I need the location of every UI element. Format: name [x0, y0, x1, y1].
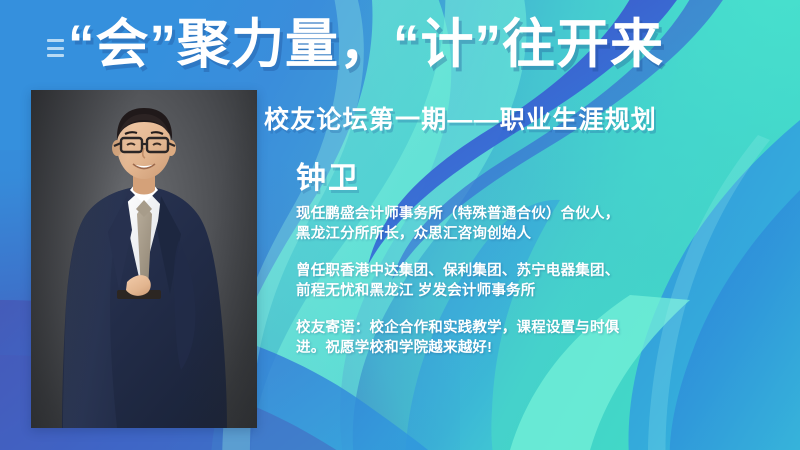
speaker-info-panel: 钟卫 现任鹏盛会计师事务所（特殊普通合伙）合伙人， 黑龙江分所所长，众思汇咨询创…: [296, 160, 716, 358]
bio-line: 进。祝愿学校和学院越来越好!: [296, 338, 716, 358]
hamburger-menu-icon[interactable]: [47, 39, 64, 57]
hamburger-bar-1: [47, 39, 64, 42]
bio-alumni-message: 校友寄语：校企合作和实践教学，课程设置与时俱 进。祝愿学校和学院越来越好!: [296, 318, 716, 358]
portrait-vignette: [31, 90, 257, 428]
bio-line: 校友寄语：校企合作和实践教学，课程设置与时俱: [296, 318, 716, 338]
page-subtitle: 校友论坛第一期——职业生涯规划: [264, 103, 657, 137]
page-title: “会”聚力量，“计”往开来: [68, 10, 788, 80]
hamburger-bar-3: [47, 54, 64, 57]
bio-line: 曾任职香港中达集团、保利集团、苏宁电器集团、: [296, 261, 716, 281]
bio-past-roles: 曾任职香港中达集团、保利集团、苏宁电器集团、 前程无忧和黑龙江 岁发会计师事务所: [296, 261, 716, 301]
bio-current-role: 现任鹏盛会计师事务所（特殊普通合伙）合伙人， 黑龙江分所所长，众思汇咨询创始人: [296, 204, 716, 244]
speaker-name: 钟卫: [296, 160, 716, 198]
bio-line: 现任鹏盛会计师事务所（特殊普通合伙）合伙人，: [296, 204, 716, 224]
bio-line: 前程无忧和黑龙江 岁发会计师事务所: [296, 281, 716, 301]
bio-line: 黑龙江分所所长，众思汇咨询创始人: [296, 224, 716, 244]
hamburger-bar-2: [47, 47, 64, 50]
speaker-portrait-photo: [31, 90, 257, 428]
poster-canvas: “会”聚力量，“计”往开来 校友论坛第一期——职业生涯规划 钟卫 现任鹏盛会计师…: [0, 0, 800, 450]
